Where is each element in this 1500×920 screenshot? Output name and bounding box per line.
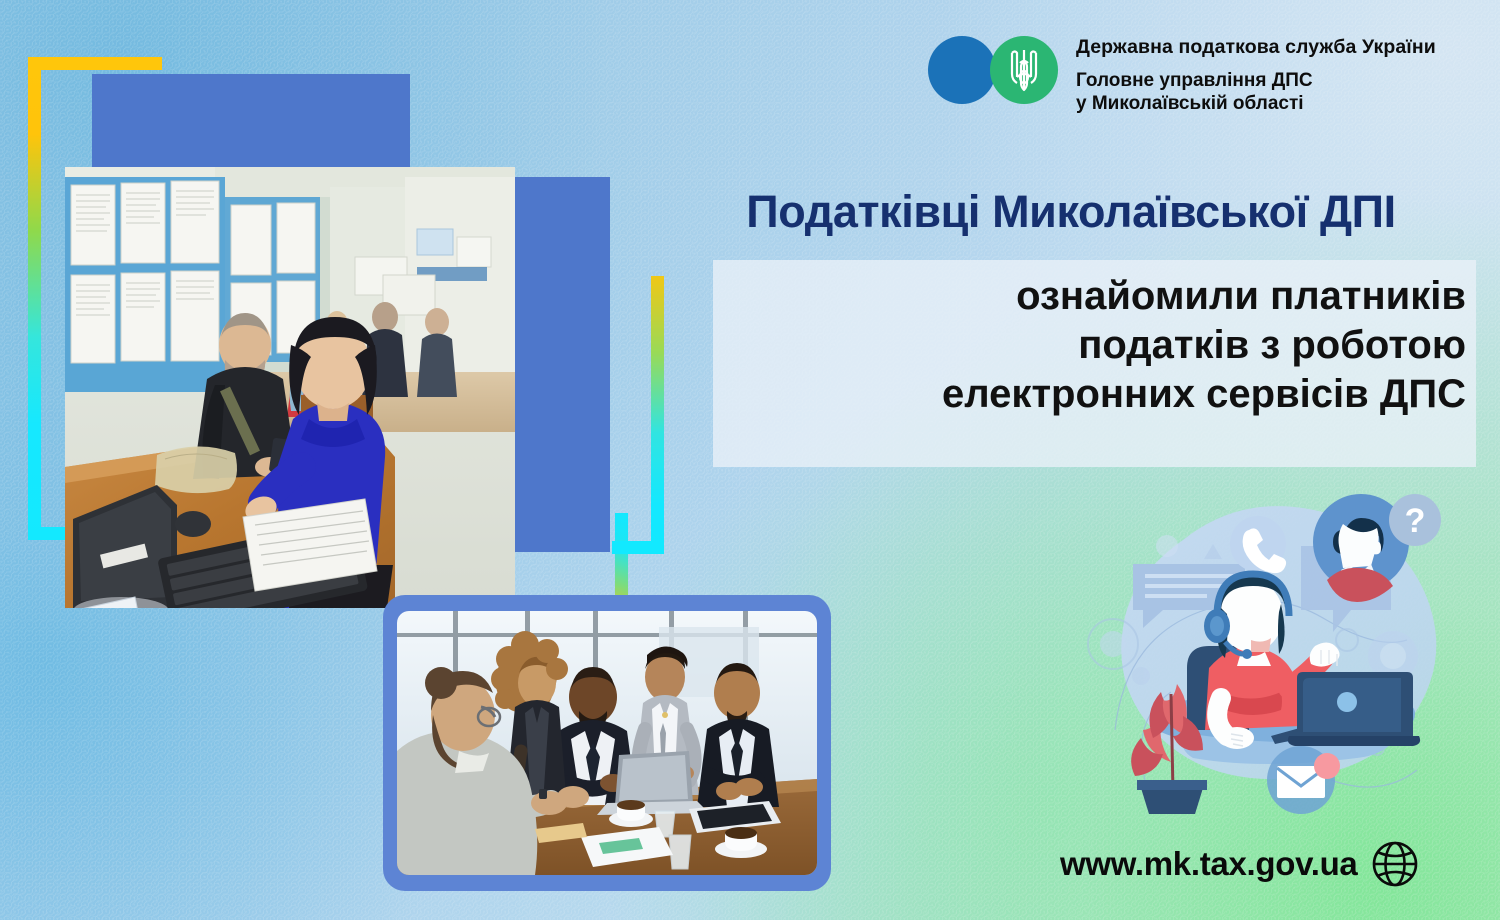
svg-text:?: ?: [1405, 502, 1426, 540]
subtitle-text: ознайомили платників податків з роботою …: [700, 272, 1476, 418]
business-meeting-photo: [397, 611, 817, 875]
website-url[interactable]: www.mk.tax.gov.ua: [1060, 845, 1357, 883]
department-name: Головне управління ДПС у Миколаївській о…: [1076, 69, 1436, 116]
department-line-2: у Миколаївській області: [1076, 93, 1304, 114]
business-meeting-photo-frame: [383, 595, 831, 891]
website-footer[interactable]: www.mk.tax.gov.ua: [1060, 840, 1419, 888]
subtitle-line-2: податків з роботою: [700, 321, 1466, 370]
ukraine-trident-emblem-icon: [990, 36, 1058, 104]
headset-mic: [1242, 649, 1252, 659]
subtitle-line-3: електронних сервісів ДПС: [700, 370, 1466, 419]
dps-logo: [928, 34, 1062, 106]
department-line-1: Головне управління ДПС: [1076, 70, 1313, 91]
page-title: Податківці Миколаївської ДПІ: [666, 188, 1476, 235]
envelope-icon: [1267, 746, 1340, 814]
header-logo-block: Державна податкова служба України Головн…: [928, 34, 1436, 116]
tax-office-service-desk-photo: [65, 167, 515, 608]
call-center-support-illustration: ?: [1075, 480, 1495, 825]
blue-circle-mark: [928, 36, 996, 104]
subtitle-line-1: ознайомили платників: [700, 272, 1466, 321]
globe-icon: [1371, 840, 1419, 888]
right-gradient-accent-bar: [612, 150, 664, 554]
organization-name: Державна податкова служба України: [1076, 36, 1436, 59]
user-avatar-with-question-icon: ?: [1313, 494, 1441, 602]
